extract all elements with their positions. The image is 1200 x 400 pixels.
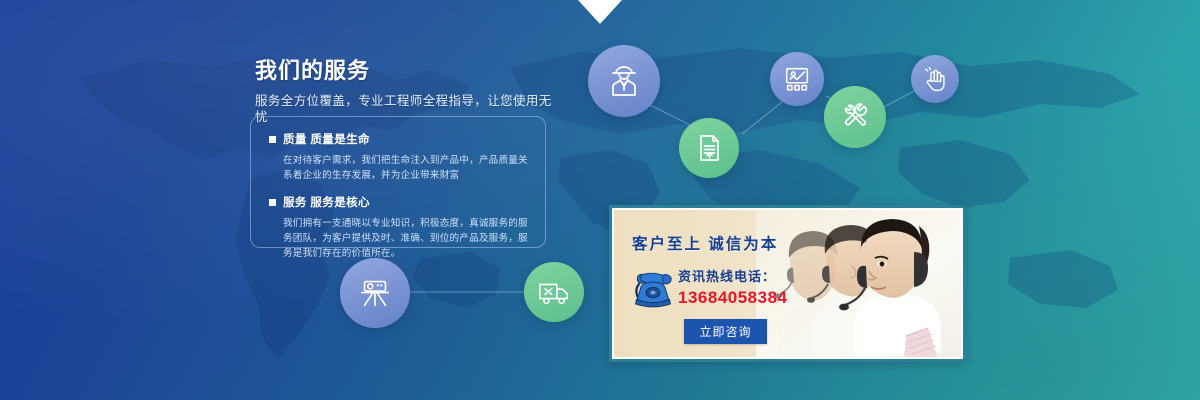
feature-title: 质量 质量是生命 bbox=[283, 131, 370, 147]
hand-gesture-icon bbox=[922, 66, 948, 92]
contact-banner: 客户至上 诚信为本 资讯热线电话： 13684058384 bbox=[609, 205, 966, 362]
tools-wrench-hammer-icon bbox=[838, 100, 872, 134]
banner-hotline-row: 资讯热线电话： 13684058384 bbox=[632, 264, 788, 310]
square-bullet-icon bbox=[269, 199, 276, 206]
feature-item-service: 服务 服务是核心 我们拥有一支通晓以专业知识，积极态度，真诚服务的服务团队，为客… bbox=[269, 194, 529, 261]
document-upload-icon bbox=[693, 132, 725, 164]
feature-item-quality: 质量 质量是生命 在对待客户需求，我们把生命注入到产品中，产品质量关系着企业的生… bbox=[269, 131, 529, 183]
delivery-truck-icon bbox=[537, 275, 571, 309]
banner-slogan: 客户至上 诚信为本 bbox=[632, 232, 788, 254]
node-survey-instrument[interactable] bbox=[340, 258, 410, 328]
feature-body: 我们拥有一支通晓以专业知识，积极态度，真诚服务的服务团队，为客户提供及时、准确、… bbox=[283, 216, 529, 261]
hotline-label: 资讯热线电话： bbox=[678, 266, 788, 285]
service-copy-block: 我们的服务 服务全方位覆盖，专业工程师全程指导，让您使用无忧 bbox=[255, 58, 555, 125]
node-hand-gesture[interactable] bbox=[911, 55, 959, 103]
survey-tripod-camera-icon bbox=[356, 274, 394, 312]
square-bullet-icon bbox=[269, 136, 276, 143]
feature-title: 服务 服务是核心 bbox=[283, 194, 370, 210]
feature-title-row: 质量 质量是生命 bbox=[269, 131, 529, 147]
service-banner-stage: 我们的服务 服务全方位覆盖，专业工程师全程指导，让您使用无忧 质量 质量是生命 … bbox=[0, 0, 1200, 400]
consult-now-button[interactable]: 立即咨询 bbox=[684, 319, 767, 344]
rotary-telephone-icon bbox=[632, 270, 674, 310]
engineer-worker-icon bbox=[604, 61, 644, 101]
chevron-down-notch-icon bbox=[578, 0, 622, 26]
node-delivery-truck[interactable] bbox=[524, 262, 584, 322]
features-card: 质量 质量是生命 在对待客户需求，我们把生命注入到产品中，产品质量关系着企业的生… bbox=[250, 116, 546, 248]
hotline-number: 13684058384 bbox=[678, 288, 788, 308]
page-title: 我们的服务 bbox=[255, 58, 555, 84]
banner-text-block: 客户至上 诚信为本 资讯热线电话： 13684058384 bbox=[632, 232, 788, 344]
training-presentation-icon bbox=[782, 64, 812, 94]
contact-banner-inner: 客户至上 诚信为本 资讯热线电话： 13684058384 bbox=[612, 208, 963, 359]
feature-body: 在对待客户需求，我们把生命注入到产品中，产品质量关系着企业的生存发展，并为企业带… bbox=[283, 153, 529, 183]
node-engineer-worker[interactable] bbox=[588, 45, 660, 117]
node-training-presentation[interactable] bbox=[770, 52, 824, 106]
node-document-upload[interactable] bbox=[679, 118, 739, 178]
node-tools-maintenance[interactable] bbox=[824, 86, 886, 148]
feature-title-row: 服务 服务是核心 bbox=[269, 194, 529, 210]
